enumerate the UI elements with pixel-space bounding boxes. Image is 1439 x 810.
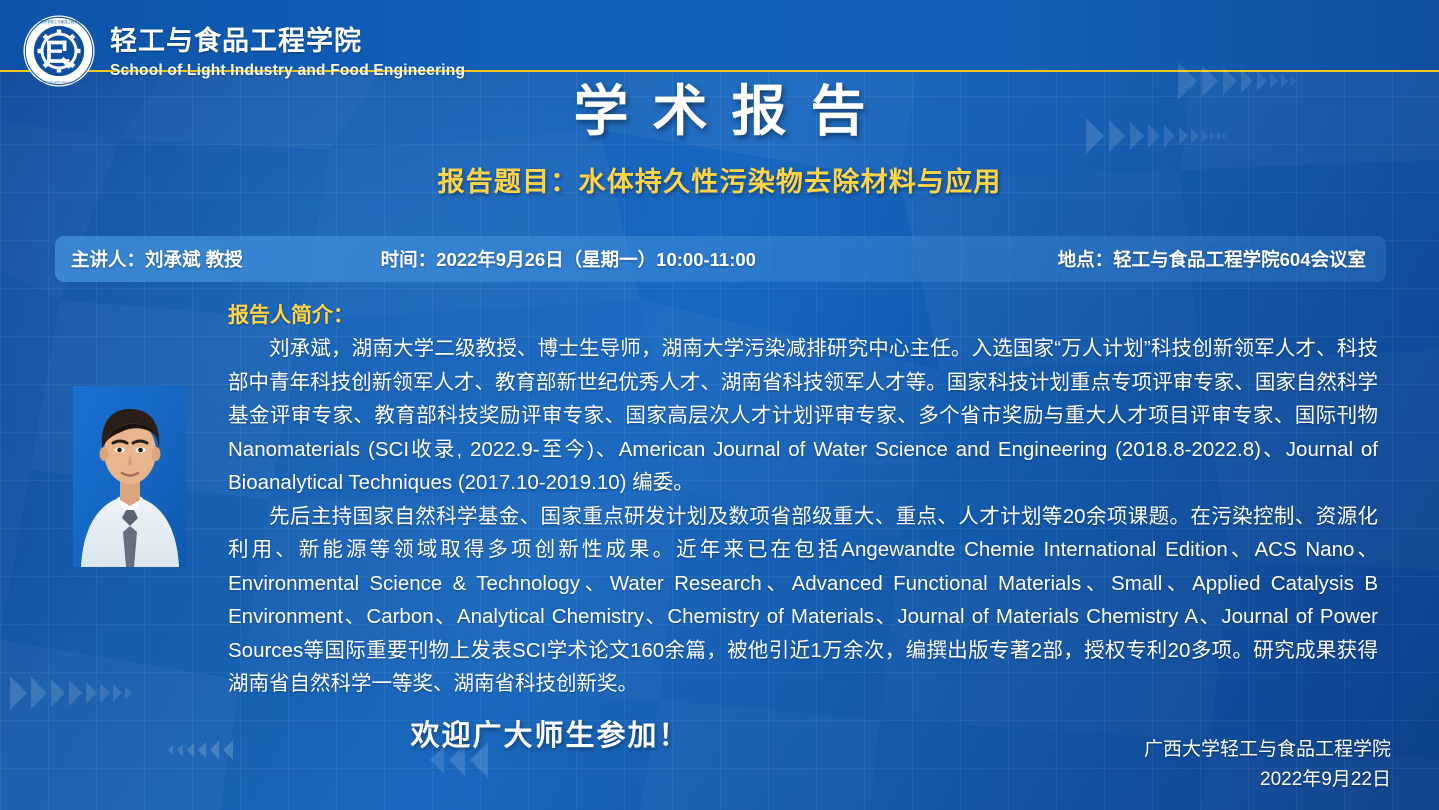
bio-paragraph-2: 先后主持国家自然科学基金、国家重点研发计划及数项省部级重大、重点、人才计划等20… xyxy=(228,500,1378,701)
svg-text:SCHOOL OF LIGHT INDUSTRY AND F: SCHOOL OF LIGHT INDUSTRY AND FOOD ENGINE… xyxy=(25,82,93,85)
bio-text: 刘承斌，湖南大学二级教授、博士生导师，湖南大学污染减排研究中心主任。入选国家“万… xyxy=(228,332,1378,701)
brand-name-cn: 轻工与食品工程学院 xyxy=(110,26,465,57)
footer-date: 2022年9月22日 xyxy=(1144,765,1391,795)
welcome-message: 欢迎广大师生参加！ xyxy=(0,712,1100,754)
info-speaker: 主讲人：刘承斌 教授 xyxy=(71,246,243,272)
brand-lockup: 广西大学轻工与食品工程学院 SCHOOL OF LIGHT INDUSTRY A… xyxy=(22,14,465,88)
academic-lecture-poster: 广西大学轻工与食品工程学院 SCHOOL OF LIGHT INDUSTRY A… xyxy=(0,0,1439,810)
speaker-portrait xyxy=(73,386,186,567)
footer-block: 广西大学轻工与食品工程学院 2022年9月22日 xyxy=(1144,735,1391,795)
bio-paragraph-1: 刘承斌，湖南大学二级教授、博士生导师，湖南大学污染减排研究中心主任。入选国家“万… xyxy=(228,332,1378,500)
university-emblem-icon: 广西大学轻工与食品工程学院 SCHOOL OF LIGHT INDUSTRY A… xyxy=(22,14,96,88)
bio-section-label: 报告人简介： xyxy=(228,299,354,329)
brand-name-en: School of Light Industry and Food Engine… xyxy=(110,62,465,80)
chevron-decoration-bottom-left xyxy=(10,676,132,710)
info-place: 地点：轻工与食品工程学院604会议室 xyxy=(1058,246,1366,272)
lecture-info-bar: 主讲人：刘承斌 教授 时间：2022年9月26日（星期一）10:00-11:00… xyxy=(55,236,1386,282)
svg-text:广西大学轻工与食品工程学院: 广西大学轻工与食品工程学院 xyxy=(37,19,82,24)
lecture-subject: 报告题目：水体持久性污染物去除材料与应用 xyxy=(0,160,1439,199)
footer-organizer: 广西大学轻工与食品工程学院 xyxy=(1144,735,1391,765)
info-time: 时间：2022年9月26日（星期一）10:00-11:00 xyxy=(381,246,756,272)
